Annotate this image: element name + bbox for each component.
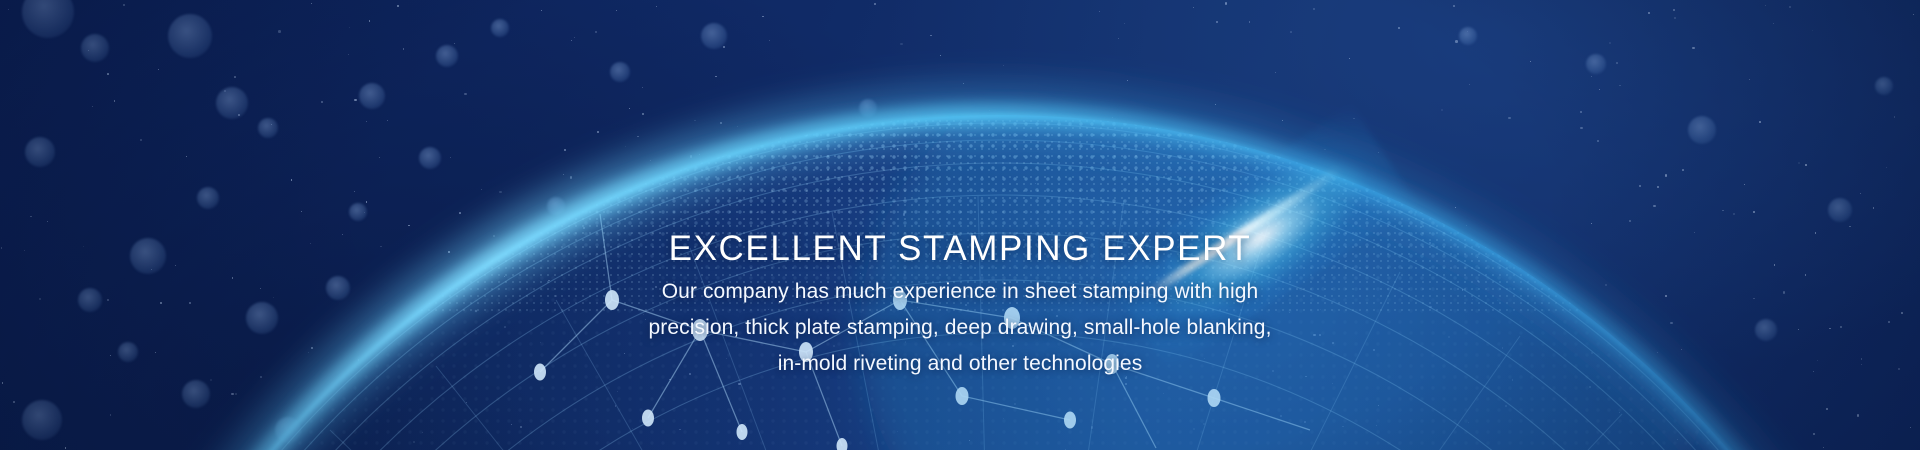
hero-banner: EXCELLENT STAMPING EXPERT Our company ha… bbox=[0, 0, 1920, 450]
hero-subtitle-line-1: Our company has much experience in sheet… bbox=[0, 274, 1920, 310]
hero-subtitle-line-2: precision, thick plate stamping, deep dr… bbox=[0, 310, 1920, 346]
hero-subtitle: Our company has much experience in sheet… bbox=[0, 274, 1920, 382]
background-sky bbox=[0, 0, 1920, 450]
hero-subtitle-line-3: in-mold riveting and other technologies bbox=[0, 346, 1920, 382]
hero-title: EXCELLENT STAMPING EXPERT bbox=[0, 227, 1920, 271]
